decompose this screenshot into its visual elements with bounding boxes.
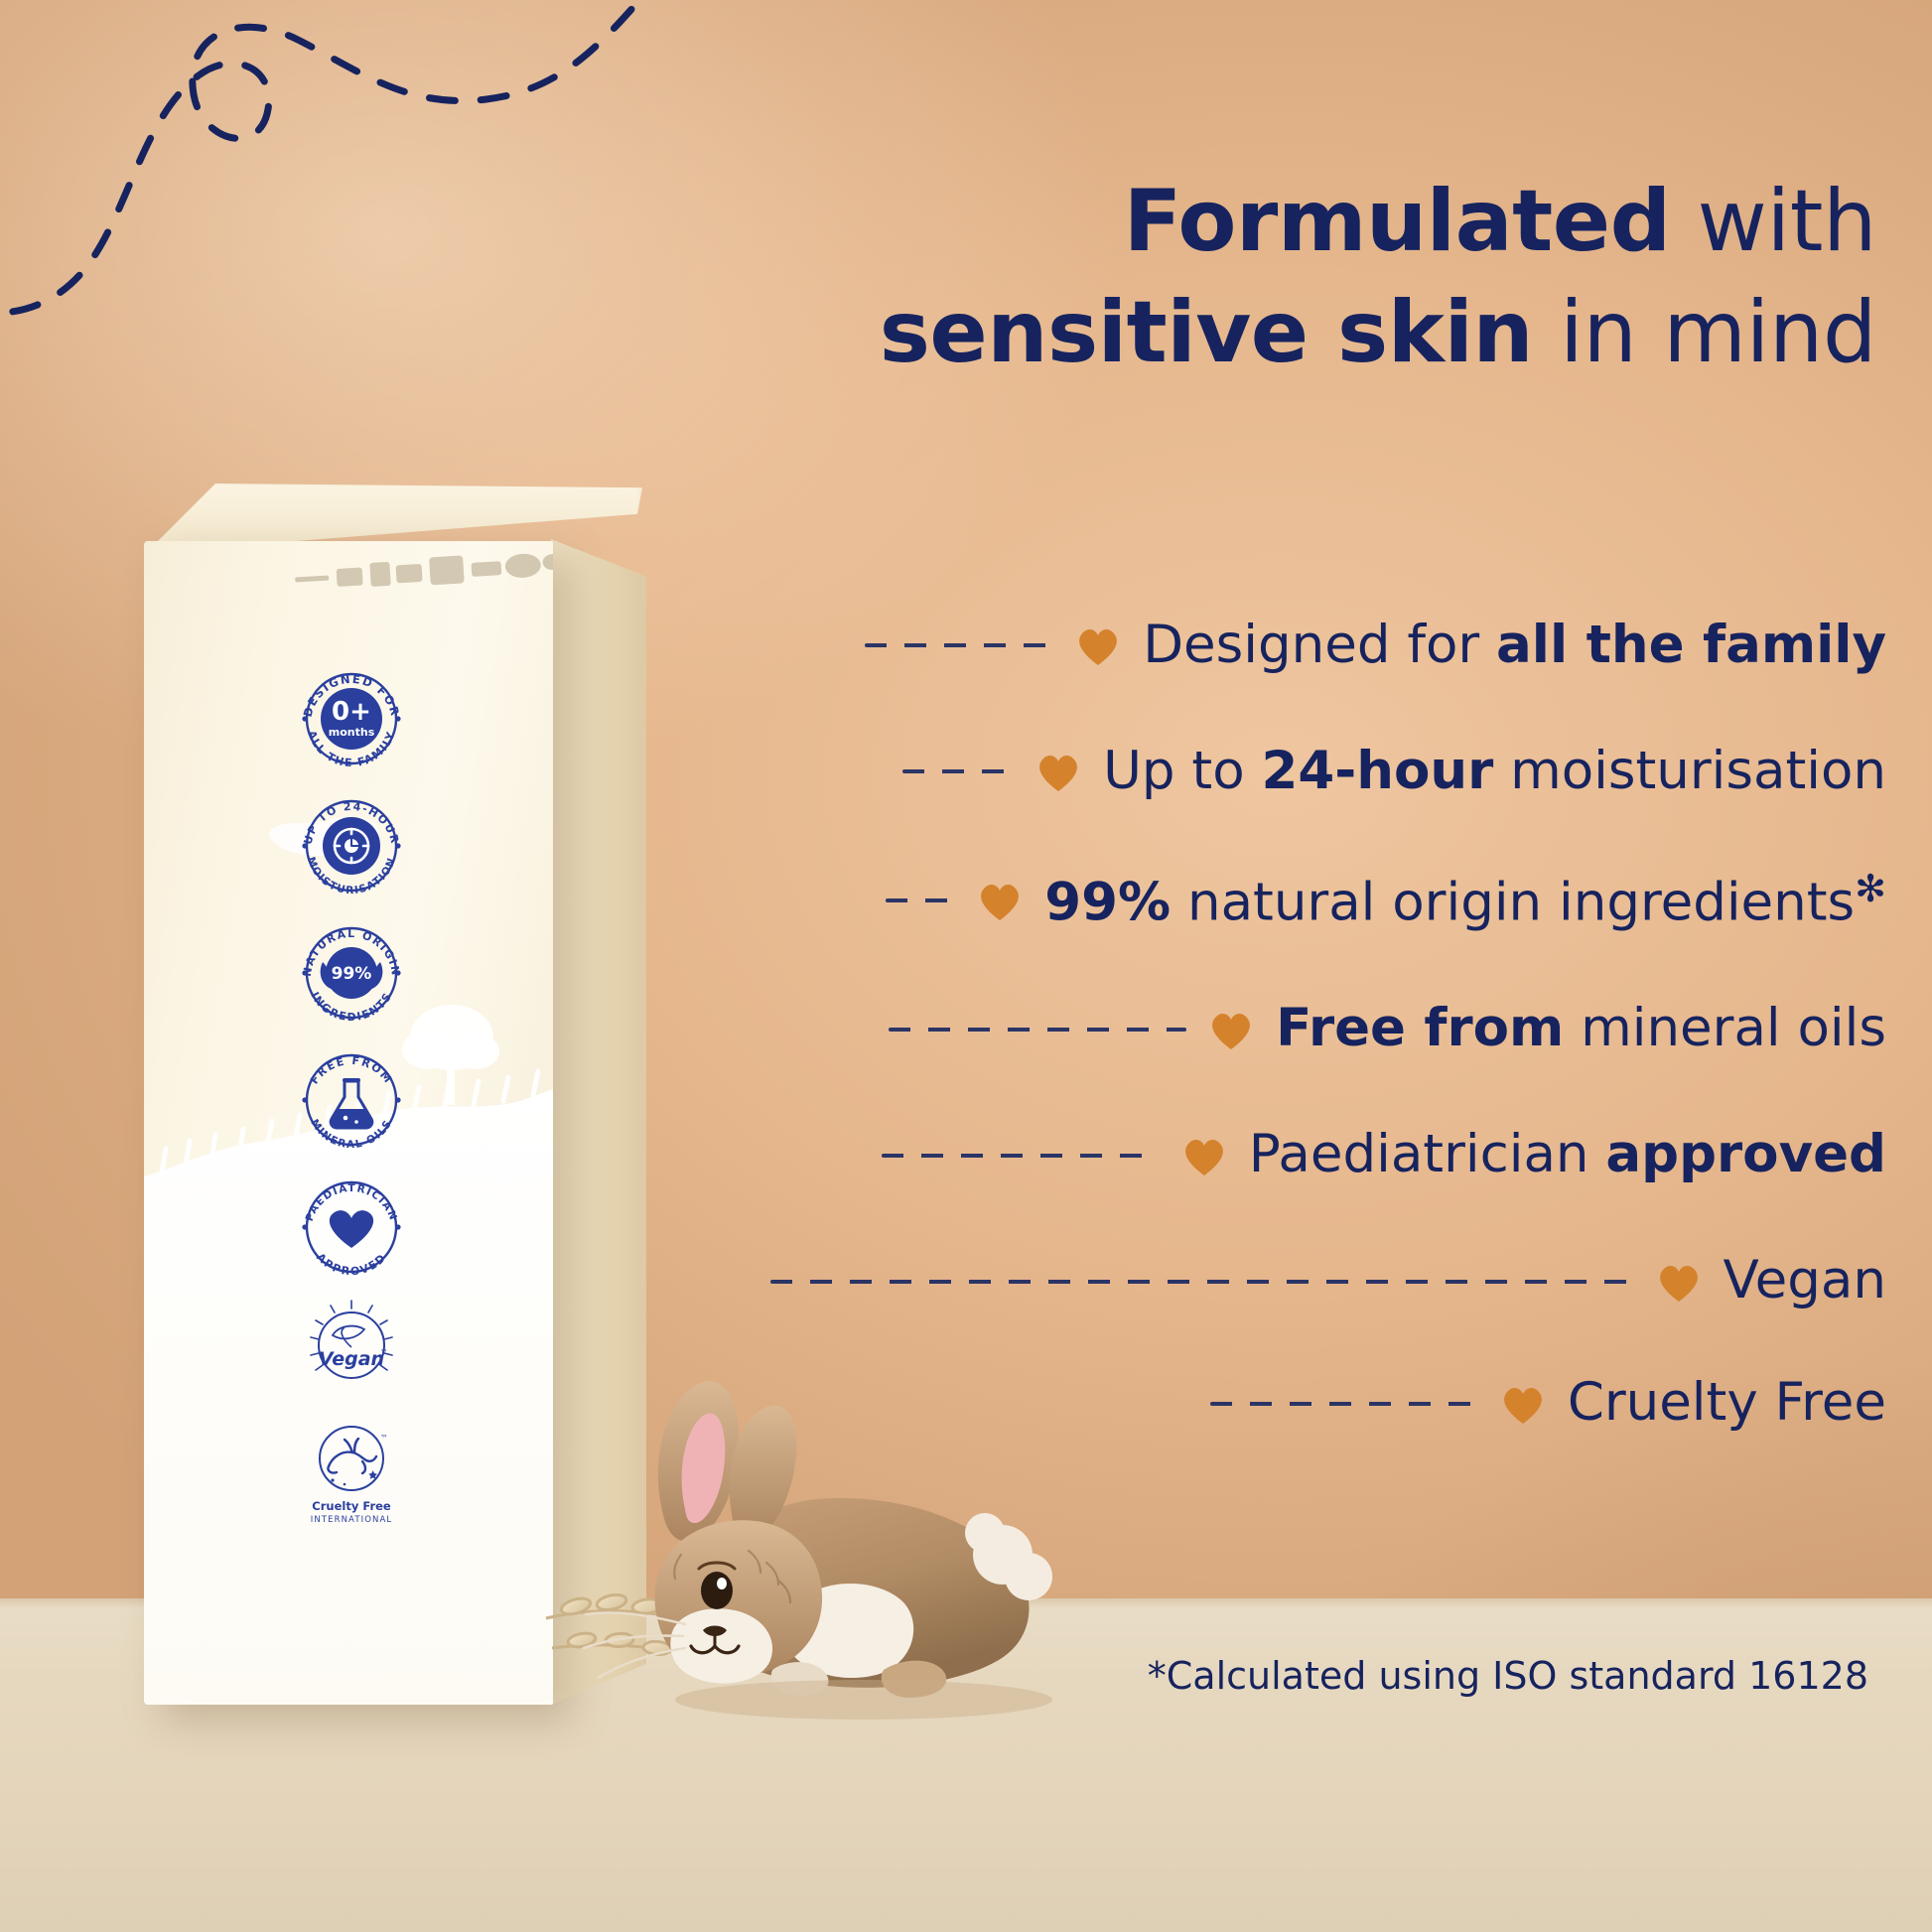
- bunny-shadow: [675, 1680, 1052, 1720]
- benefit-text-6: Vegan: [1724, 1251, 1886, 1311]
- benefit-row-24-hour-moisturisation: Up to 24-hour moisturisation: [635, 742, 1886, 802]
- benefit-text-7: Cruelty Free: [1568, 1373, 1886, 1434]
- badge1-center-unit: months: [329, 726, 375, 739]
- benefit-row-paediatrician-approved: Paediatrician approved: [635, 1125, 1886, 1185]
- heart-icon: [977, 879, 1023, 922]
- svg-text:PAEDIATRICIAN: PAEDIATRICIAN: [304, 1182, 400, 1223]
- badge6-wordmark: Vegan: [319, 1348, 384, 1370]
- benefit-2-bold: 24-hour: [1261, 741, 1493, 801]
- benefit-text-5: Paediatrician approved: [1249, 1125, 1886, 1185]
- benefit-text-1: Designed for all the family: [1143, 616, 1886, 676]
- badge7-trademark: ™: [380, 1434, 388, 1443]
- benefit-5-bold: approved: [1605, 1124, 1886, 1184]
- badge3-center-value: 99%: [332, 964, 372, 984]
- benefit-3-tail: natural origin ingredients: [1171, 873, 1855, 933]
- benefit-row-all-the-family: Designed for all the family: [635, 616, 1886, 676]
- headline-line1-light: with: [1698, 172, 1876, 271]
- benefit-row-99-natural-origin: 99% natural origin ingredients✻: [635, 868, 1886, 934]
- benefits-list: Designed for all the family Up to 24-hou…: [635, 616, 1886, 1434]
- badge-free-from-mineral-oils: FREE FROM MINERAL OILS: [293, 1041, 410, 1159]
- badge-natural-origin-ingredients: NATURAL ORIGIN INGREDIENTS 99%: [293, 914, 410, 1032]
- footnote: *Calculated using ISO standard 16128: [1148, 1654, 1868, 1698]
- clock-icon: [335, 829, 368, 863]
- connector-dashes-4: [889, 1028, 1186, 1032]
- flask-icon: [331, 1078, 372, 1128]
- leaping-bunny-icon: [328, 1439, 376, 1473]
- badge5-arc-top: PAEDIATRICIAN: [304, 1182, 400, 1223]
- badge-cruelty-free-international: ™ Cruelty Free INTERNATIONAL: [293, 1415, 410, 1524]
- benefit-1-plain: Designed for: [1143, 615, 1496, 675]
- page-title: Formulated with sensitive skin in mind: [556, 167, 1876, 389]
- benefit-6-plain: Vegan: [1724, 1250, 1886, 1311]
- carton-badge-stack: DESIGNED FOR ALL THE FAMILY 0+ months: [293, 660, 422, 1534]
- badge-vegan-certified: Vegan ™: [293, 1296, 410, 1405]
- badge-up-to-24-hour-moisturisation: UP TO 24-HOUR MOISTURISATION: [293, 787, 410, 904]
- benefit-1-bold: all the family: [1496, 615, 1886, 675]
- badge7-label-line1: Cruelty Free: [312, 1499, 391, 1513]
- badge7-label-line2: INTERNATIONAL: [311, 1515, 392, 1525]
- connector-dashes-5: [882, 1154, 1160, 1158]
- heart-icon: [330, 1210, 373, 1248]
- badge-paediatrician-approved: PAEDIATRICIAN APPROVED: [293, 1169, 410, 1286]
- heart-icon: [1500, 1382, 1546, 1426]
- heart-icon: [1035, 750, 1081, 793]
- benefit-row-vegan: Vegan: [635, 1251, 1886, 1311]
- headline-line-2: sensitive skin in mind: [556, 278, 1876, 389]
- benefit-3-bold: 99%: [1044, 873, 1171, 933]
- benefit-text-2: Up to 24-hour moisturisation: [1103, 742, 1886, 802]
- connector-dashes-2: [902, 769, 1014, 773]
- carton-front-face: DESIGNED FOR ALL THE FAMILY 0+ months: [144, 541, 553, 1705]
- benefit-row-free-from-mineral-oils: Free from mineral oils: [635, 999, 1886, 1059]
- benefit-3-asterisk: ✻: [1855, 867, 1886, 910]
- headline-line1-bold: Formulated: [1124, 172, 1671, 271]
- badge1-center-value: 0+: [332, 697, 371, 727]
- connector-dashes-7: [1210, 1402, 1478, 1406]
- benefit-4-tail: mineral oils: [1564, 998, 1886, 1058]
- headline-line-1: Formulated with: [556, 167, 1876, 278]
- benefit-2-plain: Up to: [1103, 741, 1261, 801]
- heart-icon: [1181, 1134, 1227, 1177]
- badge5-arc-bottom: APPROVED: [314, 1251, 389, 1279]
- marketing-graphic: Formulated with sensitive skin in mind: [0, 0, 1932, 1932]
- heart-icon: [1075, 623, 1121, 667]
- benefit-2-tail: moisturisation: [1493, 741, 1886, 801]
- badge-designed-for-all-the-family: DESIGNED FOR ALL THE FAMILY 0+ months: [293, 660, 410, 777]
- headline-line2-light: in mind: [1560, 283, 1876, 382]
- heart-icon: [1656, 1260, 1702, 1304]
- badge6-trademark: ™: [380, 1348, 388, 1357]
- svg-text:APPROVED: APPROVED: [314, 1251, 389, 1279]
- headline-line2-bold: sensitive skin: [880, 283, 1533, 382]
- benefit-7-plain: Cruelty Free: [1568, 1372, 1886, 1433]
- benefit-text-3: 99% natural origin ingredients✻: [1044, 868, 1886, 934]
- connector-dashes-3: [886, 898, 955, 902]
- benefit-4-bold: Free from: [1276, 998, 1564, 1058]
- connector-dashes-6: [770, 1280, 1634, 1284]
- benefit-row-cruelty-free: Cruelty Free: [635, 1373, 1886, 1434]
- benefit-text-4: Free from mineral oils: [1276, 999, 1886, 1059]
- heart-icon: [1208, 1008, 1254, 1051]
- connector-dashes-1: [865, 643, 1053, 647]
- benefit-5-plain: Paediatrician: [1249, 1124, 1606, 1184]
